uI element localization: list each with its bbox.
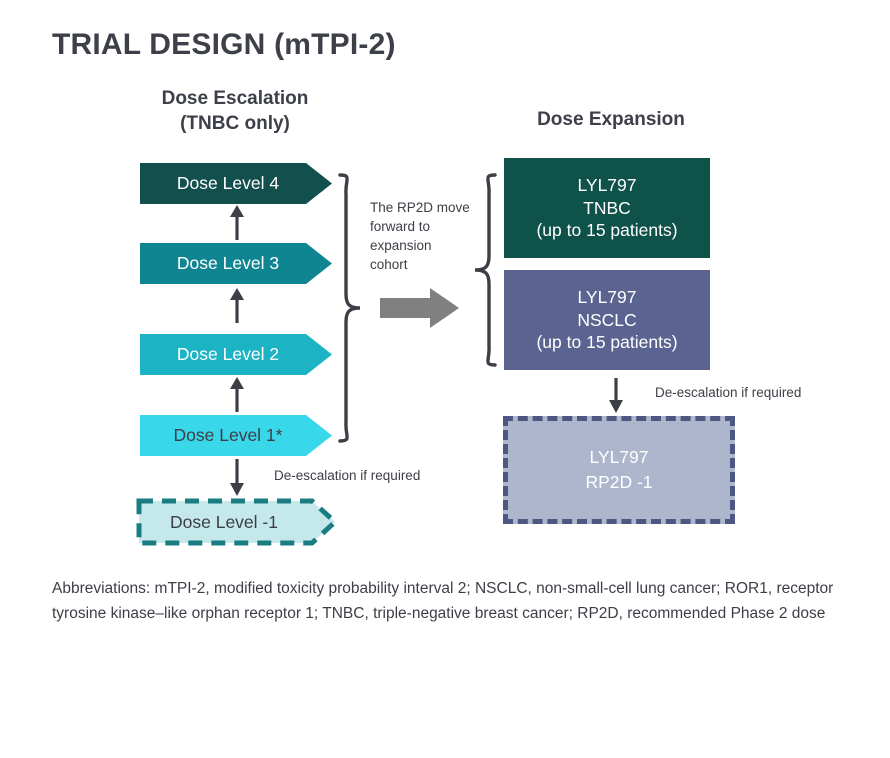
cohort-tnbc-line3: (up to 15 patients) [536, 219, 677, 242]
dose-escalation-heading-line2: (TNBC only) [130, 111, 340, 136]
cohort-nsclc-line2: NSCLC [577, 309, 636, 332]
cohort-nsclc-line1: LYL797 [577, 286, 636, 309]
dose-expansion-heading: Dose Expansion [505, 109, 717, 131]
dose-escalation-heading: Dose Escalation (TNBC only) [130, 86, 340, 136]
dose-level-minus1-label: Dose Level -1 [136, 498, 312, 546]
dose-level-1-chevron[interactable]: Dose Level 1* [140, 415, 332, 456]
cohort-box-nsclc[interactable]: LYL797 NSCLC (up to 15 patients) [504, 270, 710, 370]
escalation-up-arrow-3-to-4 [228, 376, 246, 412]
dose-level-1-label: Dose Level 1* [174, 425, 283, 446]
page-title: TRIAL DESIGN (mTPI-2) [52, 28, 396, 62]
cohort-box-tnbc[interactable]: LYL797 TNBC (up to 15 patients) [504, 158, 710, 258]
deescalation-label-right: De-escalation if required [655, 385, 801, 400]
cohort-nsclc-line3: (up to 15 patients) [536, 331, 677, 354]
escalation-brace [337, 172, 363, 444]
dose-escalation-heading-line1: Dose Escalation [130, 86, 340, 111]
dose-level-2-chevron[interactable]: Dose Level 2 [140, 334, 332, 375]
dose-level-3-chevron[interactable]: Dose Level 3 [140, 243, 332, 284]
rp2d-transition-note: The RP2D move forward to expansion cohor… [370, 198, 470, 275]
diagram-canvas: TRIAL DESIGN (mTPI-2) Dose Escalation (T… [0, 0, 890, 758]
dose-level-2-label: Dose Level 2 [177, 344, 279, 365]
cohort-rp2d-line2: RP2D -1 [585, 470, 652, 495]
dose-level-4-chevron[interactable]: Dose Level 4 [140, 163, 332, 204]
transition-right-arrow-icon [380, 287, 460, 329]
escalation-up-arrow-2-to-3 [228, 287, 246, 323]
cohort-rp2d-line1: LYL797 [589, 445, 648, 470]
deescalation-label-left: De-escalation if required [274, 468, 420, 483]
dose-level-4-label: Dose Level 4 [177, 173, 279, 194]
deescalation-down-arrow-left [228, 459, 246, 497]
dose-level-3-label: Dose Level 3 [177, 253, 279, 274]
escalation-up-arrow-1-to-2 [228, 204, 246, 240]
cohort-tnbc-line2: TNBC [583, 197, 631, 220]
dose-level-minus1-chevron[interactable]: Dose Level -1 [136, 498, 340, 546]
cohort-box-rp2d-minus1[interactable]: LYL797 RP2D -1 [503, 416, 735, 524]
expansion-brace [472, 172, 498, 368]
deescalation-down-arrow-right [607, 378, 625, 414]
abbreviations-footnote: Abbreviations: mTPI-2, modified toxicity… [52, 576, 852, 626]
cohort-tnbc-line1: LYL797 [577, 174, 636, 197]
